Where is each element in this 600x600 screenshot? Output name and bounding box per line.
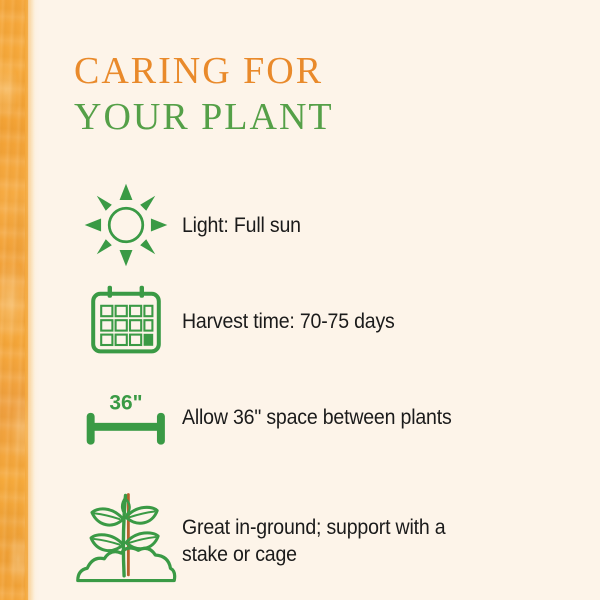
sun-icon (83, 182, 169, 268)
page-title-line-2: YOUR PLANT (74, 94, 334, 140)
care-text-light: Light: Full sun (182, 212, 301, 239)
care-row-spacing: 36" Allow 36" space between plants (70, 385, 580, 449)
care-text-ground: Great in-ground; support with a stake or… (182, 514, 445, 568)
care-text-spacing: Allow 36" space between plants (182, 404, 452, 431)
icon-cell-light (70, 182, 182, 268)
seedling-with-stake-icon (74, 486, 178, 590)
care-row-ground: Great in-ground; support with a stake or… (70, 486, 580, 596)
icon-cell-ground (70, 486, 182, 596)
stripe-grain-texture (0, 0, 40, 600)
orange-watercolor-stripe (0, 0, 44, 600)
page-title-line-1: CARING FOR (74, 48, 334, 94)
care-row-light: Light: Full sun (70, 182, 580, 268)
calendar-icon (86, 281, 166, 361)
icon-cell-harvest (70, 278, 182, 364)
care-row-harvest: Harvest time: 70-75 days (70, 278, 580, 364)
care-text-harvest: Harvest time: 70-75 days (182, 308, 395, 335)
spacing-icon-label: 36" (109, 391, 142, 414)
icon-cell-spacing: 36" (70, 385, 182, 449)
spacing-icon: 36" (80, 386, 172, 448)
plant-care-card: CARING FOR YOUR PLANT Light: Full sun (0, 0, 600, 600)
page-title: CARING FOR YOUR PLANT (74, 48, 334, 140)
